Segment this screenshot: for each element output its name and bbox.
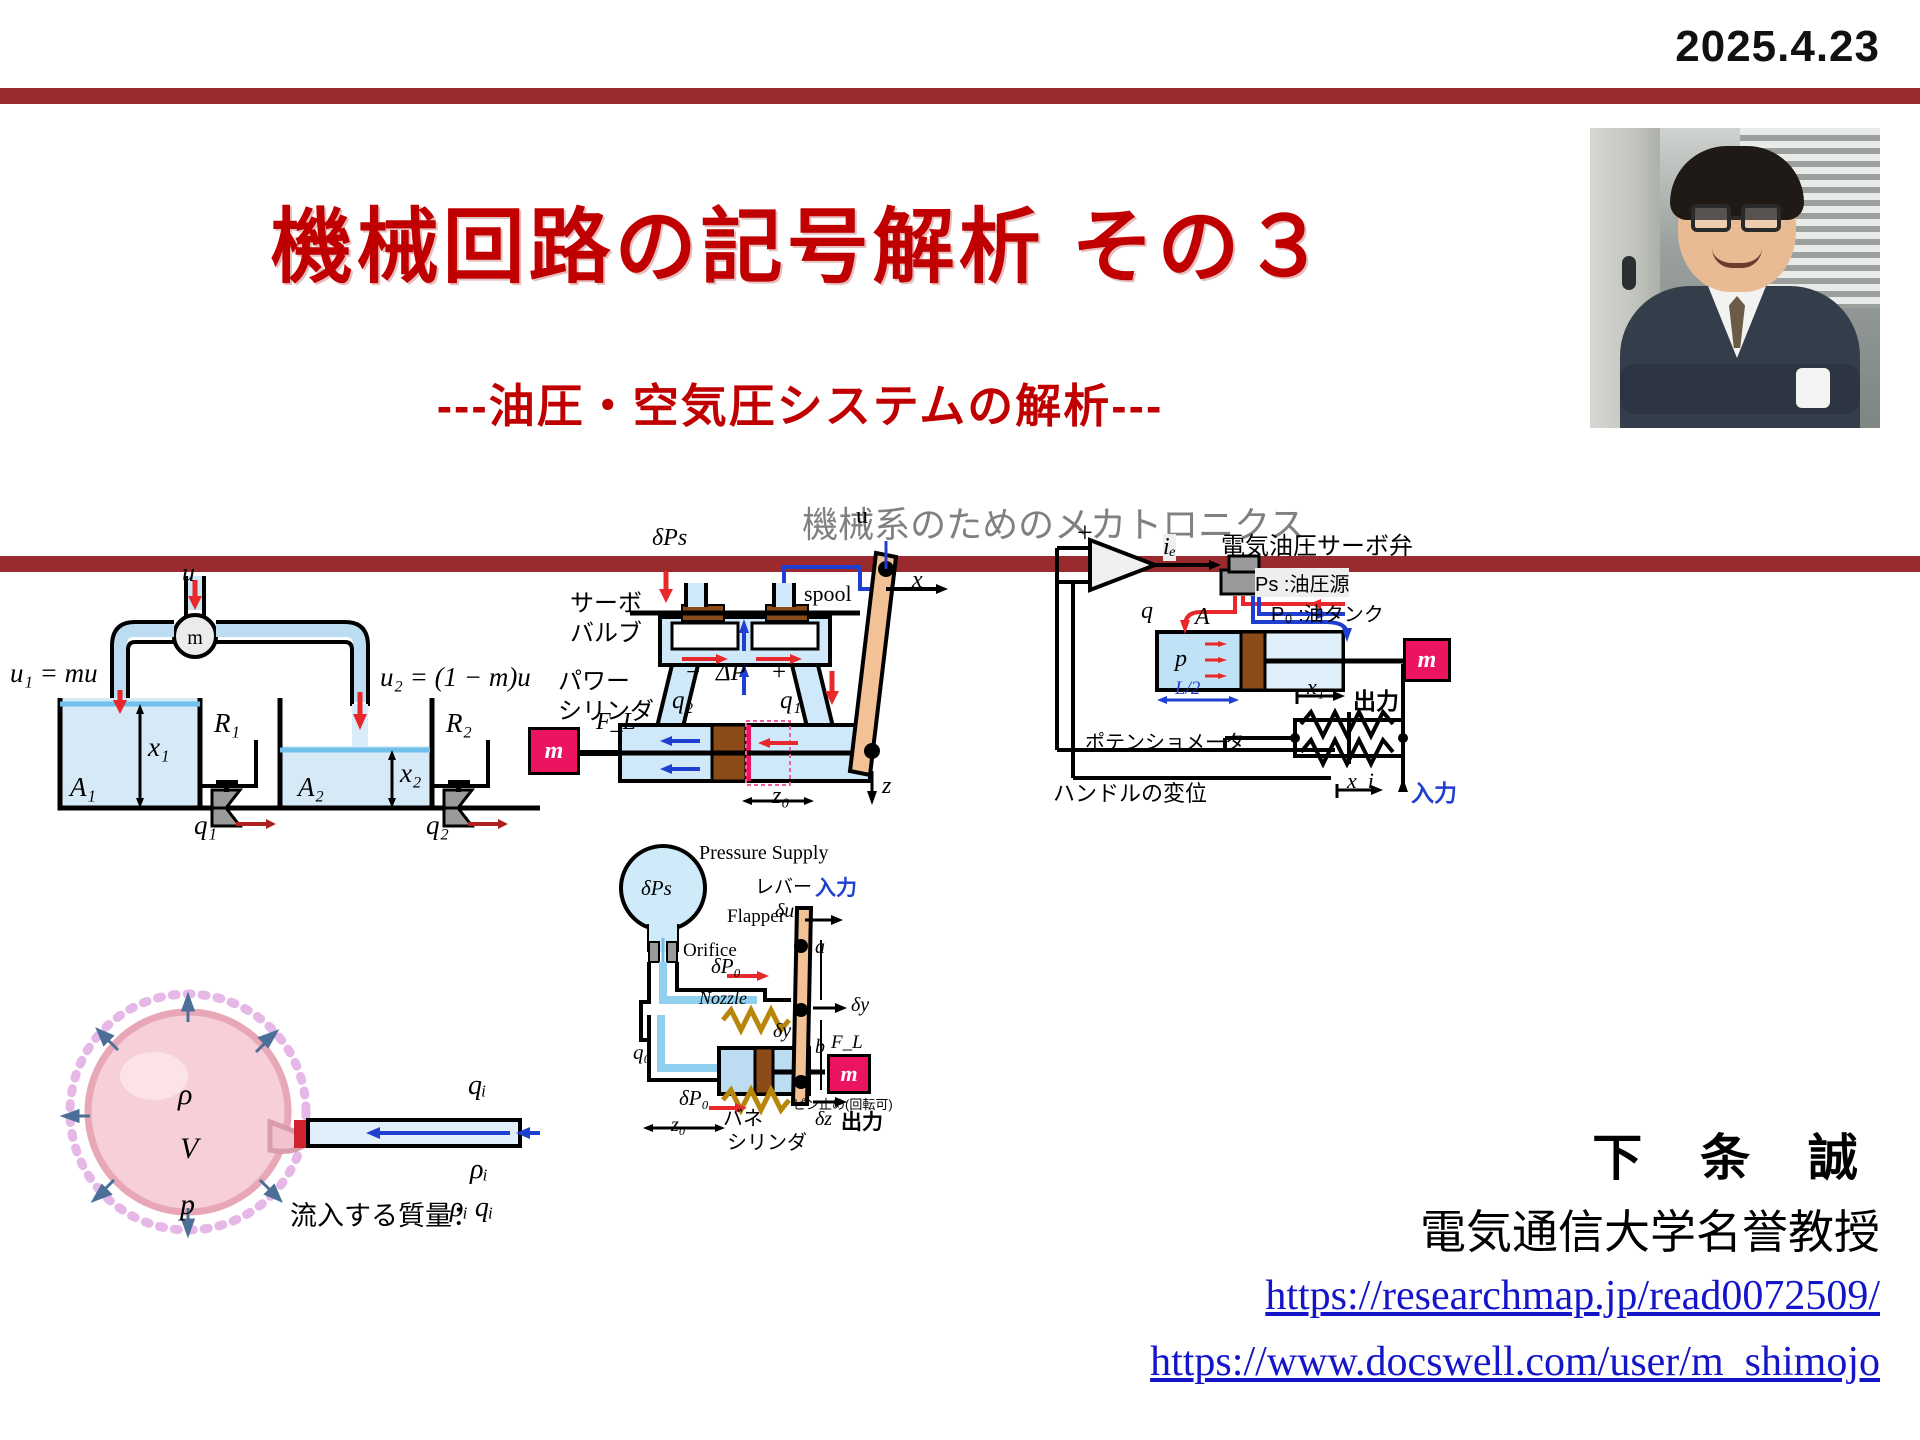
tanks-label-A2: A₂ [298, 772, 324, 803]
top-accent-bar [0, 88, 1920, 104]
eh-label-P0: P₀ :油タンク [1271, 598, 1384, 627]
tanks-label-u: u [182, 558, 195, 588]
nf-label-cylinder: シリンダ [727, 1126, 807, 1155]
page-subtitle: ---油圧・空気圧システムの解析--- [0, 370, 1600, 436]
nf-label-z0: z₀ [671, 1114, 686, 1137]
presenter-photo [1590, 128, 1880, 428]
page-title: 機械回路の記号解析 その３ [0, 180, 1600, 299]
servo-label-q1: q₁ [780, 687, 801, 715]
balloon-caption-math: ρᵢ qᵢ [450, 1192, 493, 1224]
balloon-label-rho-i: ρᵢ [470, 1154, 488, 1186]
nf-label-dy-right: δy [851, 994, 869, 1017]
link-docswell[interactable]: https://www.docswell.com/user/m_shimojo [1150, 1338, 1880, 1386]
figure-servo-valve: m δPs u x z z₀ spool サーボ バルブ パワー シリンダ ΔP… [560, 575, 980, 835]
nf-label-b: b [815, 1036, 825, 1059]
figure-two-tanks: m [40, 580, 560, 830]
tanks-label-u2: u₂ = (1 − m)u [380, 662, 531, 693]
servo-label-dP: ΔP [716, 659, 746, 687]
figure-electrohydraulic-servo: + − [1045, 600, 1545, 830]
nf-label-dP0-bottom: δP₀ [679, 1086, 709, 1111]
eh-label-ie: iₑ [1163, 534, 1176, 561]
servo-label-minus: − [686, 659, 700, 687]
nf-label-a: a [815, 936, 825, 959]
servo-mass-label: m [545, 738, 564, 765]
tanks-label-x1: x₁ [148, 732, 169, 763]
eh-mass-label: m [1418, 647, 1437, 674]
eh-label-xi: x_i [1347, 768, 1374, 794]
servo-label-x: x [912, 567, 923, 594]
nf-label-dP0-top: δP₀ [711, 954, 741, 979]
tanks-label-A1: A₁ [70, 772, 96, 803]
mid-accent-bar [0, 556, 1920, 572]
nf-mass-label: m [840, 1061, 857, 1087]
servo-label-q2: q₂ [672, 687, 693, 715]
servo-label-FL: F_L [596, 709, 636, 736]
servo-label-u: u [856, 503, 868, 530]
servo-label-spool: spool [804, 581, 852, 607]
eh-label-Ps: Ps :油圧源 [1255, 568, 1349, 597]
eh-label-A: A [1195, 604, 1210, 631]
slide-date: 2025.4.23 [1675, 22, 1880, 72]
svg-text:−: − [1077, 568, 1093, 599]
servo-label-z: z [882, 773, 891, 800]
servo-valve-label-line2: バルブ [570, 613, 642, 648]
balloon-label-qi: qᵢ [468, 1070, 486, 1102]
nf-label-FL: F_L [831, 1032, 863, 1054]
servo-mass-block: m [528, 727, 580, 775]
eh-label-p: p [1175, 646, 1187, 673]
nf-label-dPs: δPs [641, 876, 672, 901]
tanks-label-R1: R₁ [214, 708, 240, 739]
balloon-label-p: p [180, 1188, 195, 1222]
nf-label-dy-left: δy [773, 1020, 791, 1043]
eh-label-potentiometer: ポテンショメータ [1085, 726, 1245, 755]
servo-label-z0: z₀ [772, 783, 790, 810]
nf-label-input: 入力 [815, 872, 857, 902]
balloon-label-rho: ρ [178, 1078, 192, 1112]
tanks-label-R2: R₂ [446, 708, 472, 739]
nf-label-du: δu [775, 900, 794, 923]
eh-label-L2: L/2 [1175, 678, 1200, 700]
figure-nozzle-flapper: m Pressure Supply δPs Orifice Nozzle Fla… [615, 850, 915, 1150]
nf-label-q0: q₀ [633, 1040, 651, 1065]
tanks-label-q1: q₁ [194, 810, 217, 841]
nf-label-pressure-supply: Pressure Supply [699, 842, 828, 865]
slide-root: 2025.4.23 機械回路の記号解析 その３ ---油圧・空気圧システムの解析… [0, 0, 1920, 1440]
servo-label-plus: + [772, 659, 786, 687]
eh-label-q: q [1141, 598, 1153, 625]
servo-label-dPs: δPs [652, 525, 687, 552]
eh-label-input: 入力 [1411, 774, 1457, 808]
eh-label-handle: ハンドルの変位 [1053, 776, 1207, 808]
author-name: 下 条 誠 [1592, 1118, 1880, 1190]
tanks-label-u1: u₁ = mu [10, 658, 98, 689]
eh-mass-block: m [1403, 638, 1451, 682]
eh-label-output: 出力 [1353, 682, 1399, 716]
eh-title-label: 電気油圧サーボ弁 [1221, 526, 1413, 561]
link-researchmap[interactable]: https://researchmap.jp/read0072509/ [1265, 1272, 1880, 1320]
eh-label-x1: x₁ [1307, 674, 1324, 700]
balloon-label-V: V [180, 1132, 198, 1166]
tanks-label-x2: x₂ [400, 758, 421, 789]
nf-label-nozzle: Nozzle [699, 988, 747, 1009]
figure-balloon: ρ V p qᵢ ρᵢ 流入する質量： ρᵢ qᵢ [70, 1020, 550, 1240]
tanks-label-q2: q₂ [426, 810, 449, 841]
nf-label-lever: レバー [755, 872, 812, 899]
svg-text:m: m [187, 627, 203, 649]
nf-mass-block: m [827, 1054, 871, 1094]
nf-label-output: 出力 [841, 1106, 883, 1136]
author-affiliation: 電気通信大学名誉教授 [1420, 1196, 1880, 1262]
svg-text:+: + [1077, 518, 1093, 549]
